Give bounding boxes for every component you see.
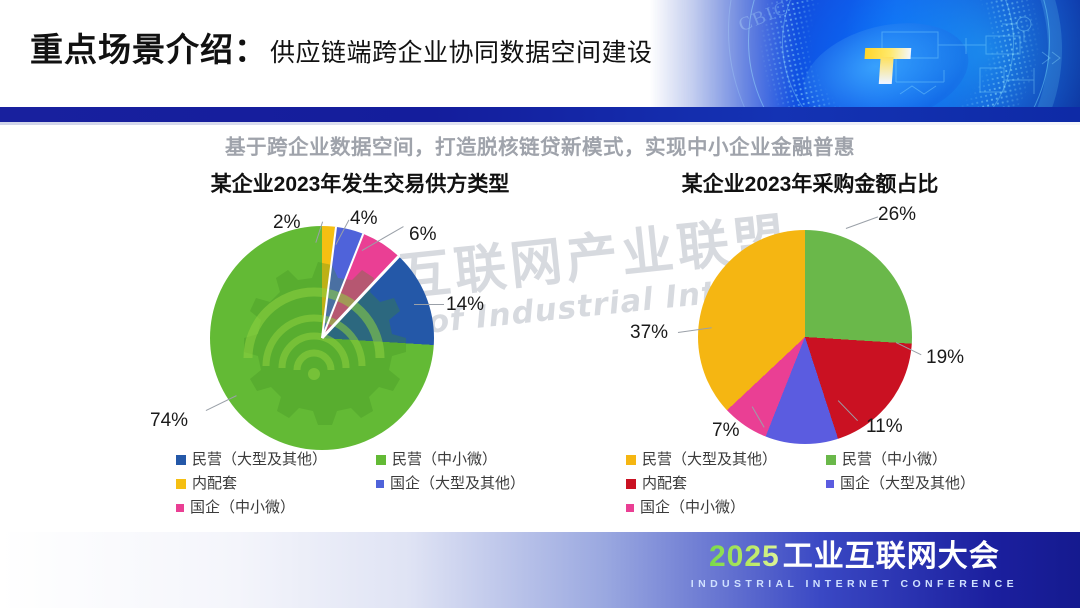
legend-label: 民营（中小微）	[842, 452, 947, 467]
legend-swatch-icon	[626, 479, 636, 489]
legend-label: 国企（大型及其他）	[390, 476, 525, 491]
page-title-sub: 供应链端跨企业协同数据空间建设	[270, 41, 653, 66]
legend-right: 民营（大型及其他） 民营（中小微） 内配套 国企（大型及其他） 国企（中小微）	[626, 452, 1016, 524]
pie-label-19: 19%	[926, 347, 964, 369]
pie-label-14: 14%	[446, 294, 484, 316]
chart-right-plot: 26% 19% 11% 7% 37%	[610, 204, 1010, 454]
legend-label: 民营（大型及其他）	[192, 452, 327, 467]
pie-label-26: 26%	[878, 204, 916, 226]
section-banner-text: 基于跨企业数据空间，打造脱核链贷新模式，实现中小企业金融普惠	[0, 130, 1080, 160]
pie-label-7: 7%	[712, 420, 739, 442]
legend-item-soe-sme[interactable]: 国企（中小微）	[176, 500, 376, 515]
brand-name-en: INDUSTRIAL INTERNET CONFERENCE	[691, 578, 1018, 590]
chart-right-title: 某企业2023年采购金额占比	[610, 168, 1010, 198]
legend-label: 内配套	[642, 476, 687, 491]
legend-label: 国企（中小微）	[640, 500, 745, 515]
legend-label: 内配套	[192, 476, 237, 491]
pie-label-74: 74%	[150, 410, 188, 432]
slide-header: 重点场景介绍： 供应链端跨企业协同数据空间建设	[0, 0, 1080, 104]
legend-item-private-large[interactable]: 民营（大型及其他）	[176, 452, 376, 467]
chart-right: 某企业2023年采购金额占比 26% 19% 11% 7% 37%	[610, 168, 1010, 454]
legend-item-soe-sme[interactable]: 国企（中小微）	[626, 500, 826, 515]
page-title: 重点场景介绍： 供应链端跨企业协同数据空间建设	[30, 33, 653, 66]
pie-label-2: 2%	[273, 212, 300, 234]
legend-item-soe-large[interactable]: 国企（大型及其他）	[826, 476, 975, 491]
legend-swatch-icon	[376, 480, 384, 488]
legend-row: 民营（大型及其他） 民营（中小微）	[176, 452, 566, 467]
legend-label: 国企（大型及其他）	[840, 476, 975, 491]
brand-year: 2025	[709, 542, 780, 572]
chart-left-plot: 2% 4% 6% 14% 74%	[150, 204, 570, 454]
header-divider-shadow	[0, 122, 1080, 125]
legend-row: 内配套 国企（大型及其他）	[626, 476, 1016, 491]
legend-row: 民营（大型及其他） 民营（中小微）	[626, 452, 1016, 467]
legend-item-internal-supply[interactable]: 内配套	[176, 476, 376, 491]
legend-item-private-large[interactable]: 民营（大型及其他）	[626, 452, 826, 467]
legend-swatch-icon	[376, 455, 386, 465]
legend-item-private-sme[interactable]: 民营（中小微）	[826, 452, 947, 467]
chart-left: 某企业2023年发生交易供方类型	[150, 168, 570, 454]
pie-label-11: 11%	[866, 416, 903, 438]
legend-left: 民营（大型及其他） 民营（中小微） 内配套 国企（大型及其他） 国企（中小微）	[176, 452, 566, 524]
legend-label: 国企（中小微）	[190, 500, 295, 515]
chart-left-title: 某企业2023年发生交易供方类型	[150, 168, 570, 198]
legend-swatch-icon	[176, 455, 186, 465]
legend-swatch-icon	[626, 455, 636, 465]
footer-bar: 2025 工业互联网大会 INDUSTRIAL INTERNET CONFERE…	[0, 532, 1080, 608]
conference-branding: 2025 工业互联网大会 INDUSTRIAL INTERNET CONFERE…	[691, 542, 1018, 590]
page-title-main: 重点场景介绍：	[30, 33, 268, 66]
leader-line	[846, 216, 878, 229]
pie-right	[698, 230, 912, 444]
pie-label-37: 37%	[630, 322, 668, 344]
legend-swatch-icon	[826, 455, 836, 465]
legend-row: 国企（中小微）	[176, 500, 566, 515]
leader-line	[414, 304, 444, 305]
legend-item-internal-supply[interactable]: 内配套	[626, 476, 826, 491]
legend-swatch-icon	[176, 479, 186, 489]
pie-label-6: 6%	[409, 224, 436, 246]
legend-swatch-icon	[826, 480, 834, 488]
slide-canvas: CBIC 重点场景介绍： 供应链端跨企业协同数据空间建设 工业互联网产业联盟 A…	[0, 0, 1080, 608]
pie-label-4: 4%	[350, 208, 377, 230]
legend-swatch-icon	[176, 504, 184, 512]
legend-label: 民营（中小微）	[392, 452, 497, 467]
header-divider-bar	[0, 107, 1080, 122]
legend-label: 民营（大型及其他）	[642, 452, 777, 467]
legend-item-soe-large[interactable]: 国企（大型及其他）	[376, 476, 525, 491]
legend-row: 国企（中小微）	[626, 500, 1016, 515]
legend-item-private-sme[interactable]: 民营（中小微）	[376, 452, 497, 467]
brand-name-cn: 工业互联网大会	[783, 542, 1000, 572]
legend-row: 内配套 国企（大型及其他）	[176, 476, 566, 491]
legend-swatch-icon	[626, 504, 634, 512]
